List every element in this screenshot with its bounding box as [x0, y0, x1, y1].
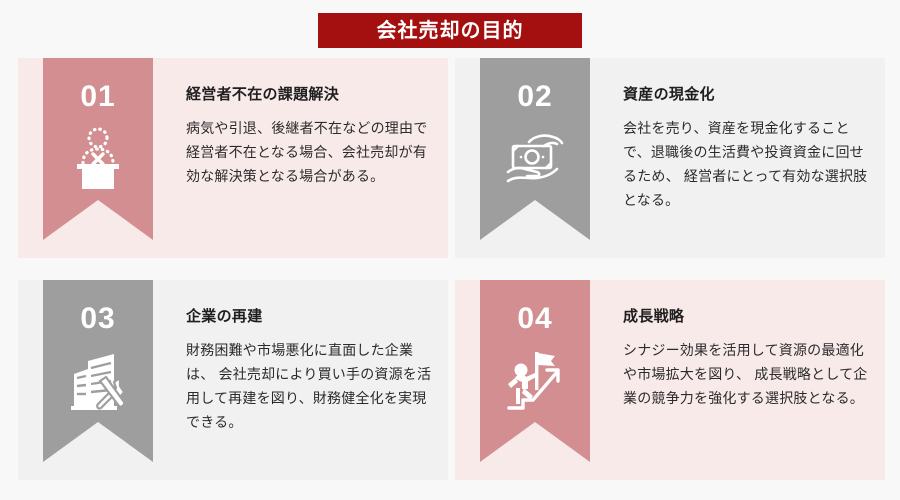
cash-in-hands-icon [499, 122, 571, 194]
ribbon-banner-01: 01 [43, 58, 153, 240]
ribbon-banner-04: 04 [480, 280, 590, 462]
purpose-card-04: 04 [455, 280, 885, 480]
purpose-card-03: 03 [18, 280, 448, 480]
ribbon-number-01: 01 [80, 82, 115, 112]
card-text-03: 企業の再建 財務困難や市場悪化に直面した企業は、 会社売却により買い手の資源を活… [186, 308, 434, 434]
card-body-04: シナジー効果を活用して資源の最適化や市場拡大を図り、 成長戦略として企業の競争力… [623, 338, 871, 410]
card-heading-01: 経営者不在の課題解決 [186, 86, 434, 104]
card-text-01: 経営者不在の課題解決 病気や引退、後継者不在などの理由で経営者不在となる場合、会… [186, 86, 434, 188]
purpose-card-01: 01 経営者不在の課題解決 病気や引退、後継者不在などの理由で経営者不在となる場… [18, 58, 448, 258]
card-body-02: 会社を売り、資産を現金化することで、退職後の生活費や投資資金に回せるため、 経営… [623, 116, 871, 212]
person-flag-growth-icon [499, 344, 571, 416]
card-body-01: 病気や引退、後継者不在などの理由で経営者不在となる場合、会社売却が有効な解決策と… [186, 116, 434, 188]
page-title-banner: 会社売却の目的 [318, 13, 582, 48]
ribbon-banner-02: 02 [480, 58, 590, 240]
ribbon-number-03: 03 [80, 304, 115, 334]
card-heading-02: 資産の現金化 [623, 86, 871, 104]
card-heading-04: 成長戦略 [623, 308, 871, 326]
ribbon-banner-03: 03 [43, 280, 153, 462]
empty-podium-icon [62, 122, 134, 194]
purpose-card-02: 02 [455, 58, 885, 258]
page-title: 会社売却の目的 [377, 21, 524, 41]
infographic-page: 会社売却の目的 01 経営者不在の課題解決 病気や引 [0, 0, 900, 500]
ribbon-number-02: 02 [517, 82, 552, 112]
card-heading-03: 企業の再建 [186, 308, 434, 326]
card-text-04: 成長戦略 シナジー効果を活用して資源の最適化や市場拡大を図り、 成長戦略として企… [623, 308, 871, 410]
card-text-02: 資産の現金化 会社を売り、資産を現金化することで、退職後の生活費や投資資金に回せ… [623, 86, 871, 212]
card-body-03: 財務困難や市場悪化に直面した企業は、 会社売却により買い手の資源を活用して再建を… [186, 338, 434, 434]
building-repair-icon [62, 344, 134, 416]
ribbon-number-04: 04 [517, 304, 552, 334]
